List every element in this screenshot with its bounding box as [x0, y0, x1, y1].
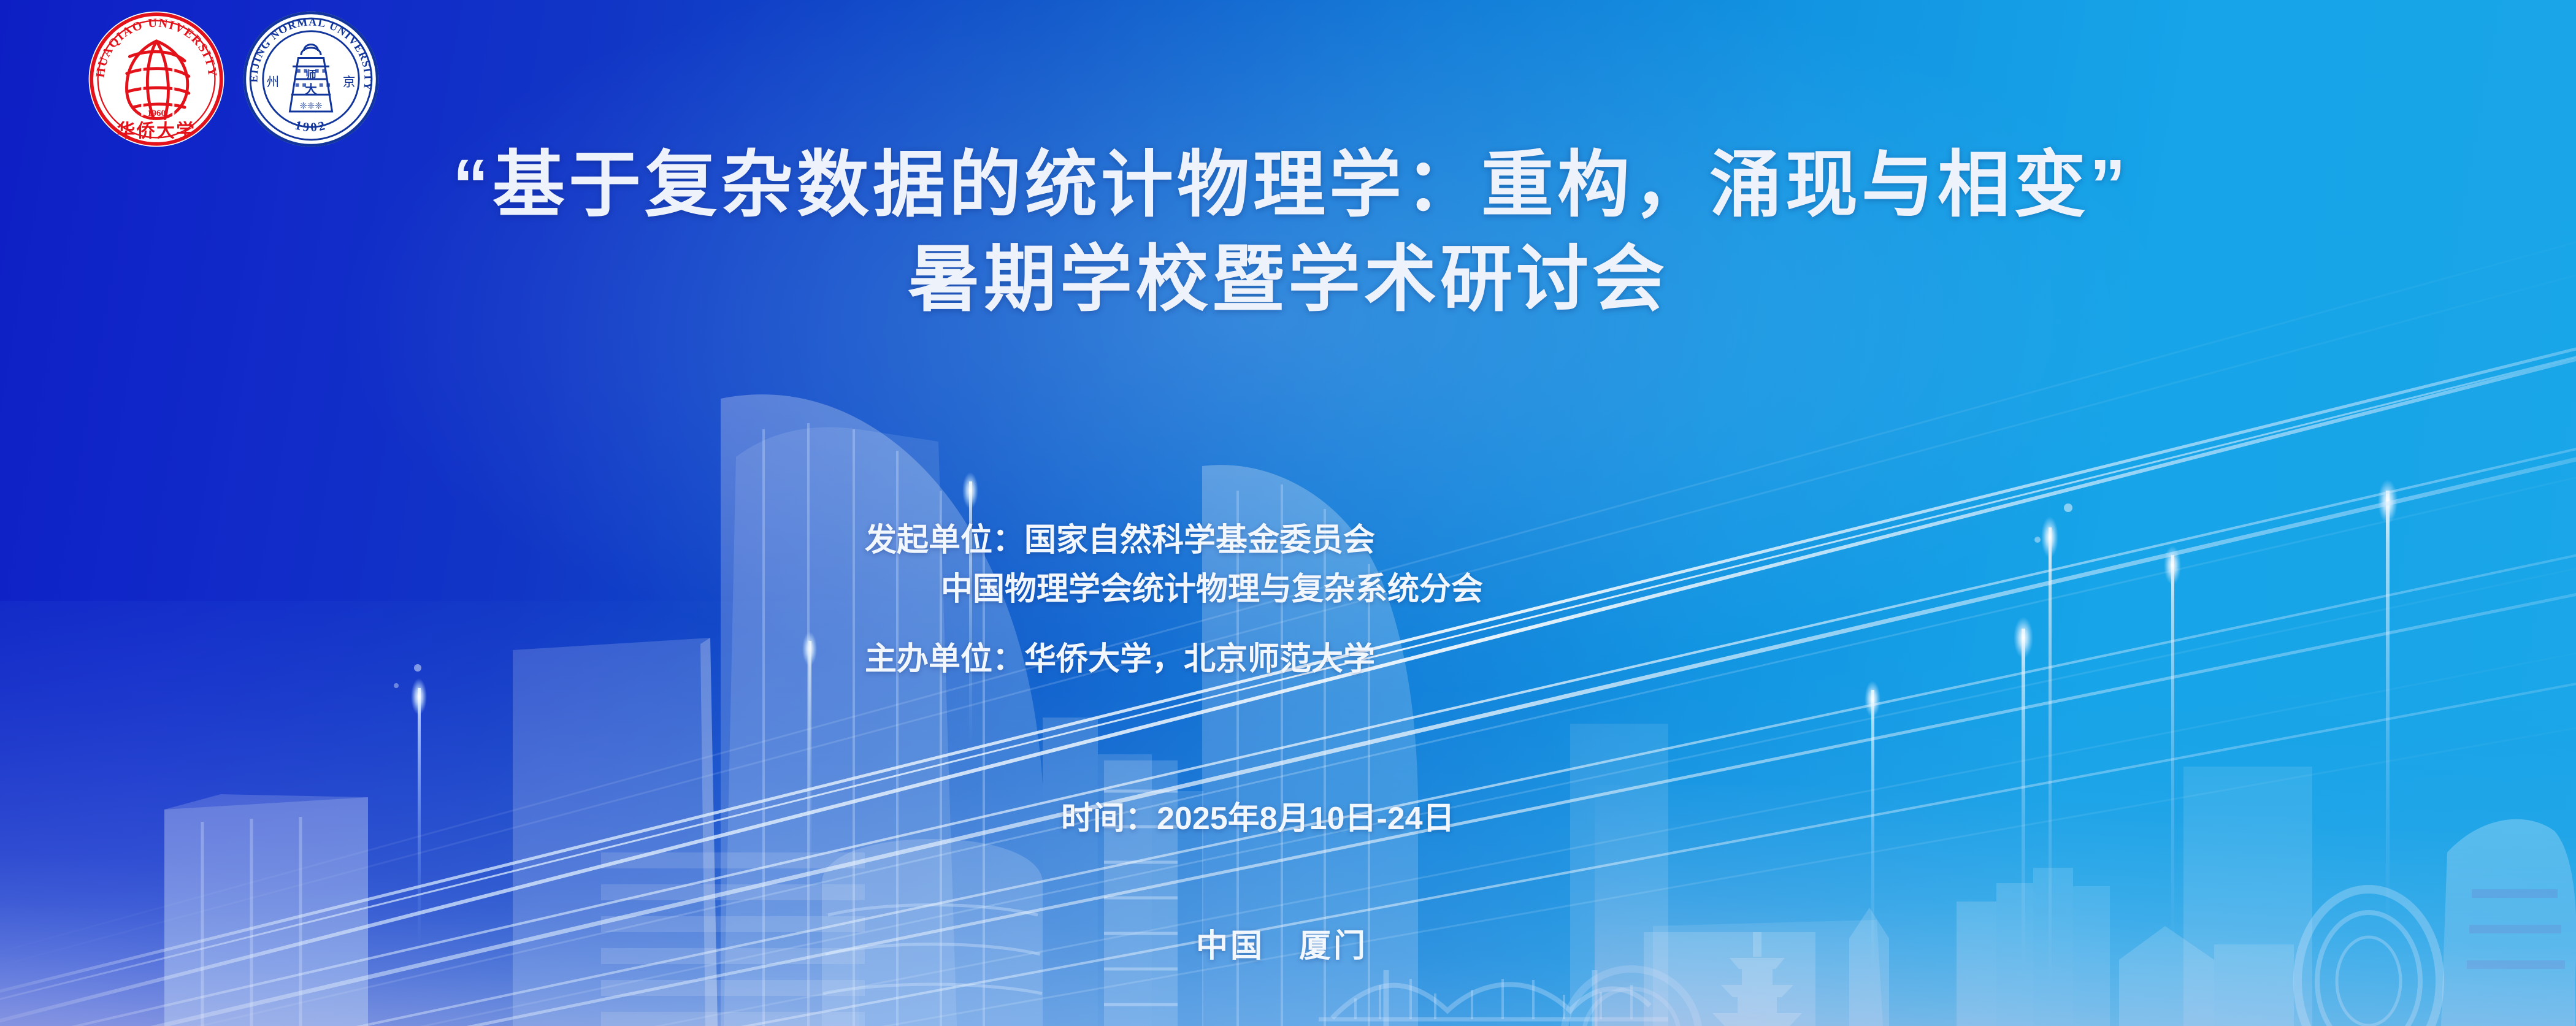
host-line: 主办单位：华侨大学，北京师范大学: [865, 643, 1483, 675]
university-logos: HUAQIAO UNIVERSITY 1960 华侨大学: [86, 9, 381, 150]
skyline-far: [724, 427, 2312, 1026]
suspension-bridge: [1319, 970, 1668, 1026]
svg-text:京: 京: [343, 75, 356, 90]
date-line: 时间：2025年8月10日-24日: [1061, 792, 1455, 838]
huaqiao-university-logo: HUAQIAO UNIVERSITY 1960 华侨大学: [86, 9, 227, 150]
svg-text:州: 州: [267, 75, 280, 90]
pagoda: [1712, 932, 1802, 1026]
round-ribbed-building: [822, 839, 1043, 1026]
svg-text:大: 大: [305, 82, 317, 96]
title-line-1: “基于复杂数据的统计物理学：重构，涌现与相变”: [0, 136, 2576, 234]
beijing-normal-university-logo: BEIJING NORMAL UNIVERSITY 1902 师 大: [240, 9, 381, 150]
skyline-right: [1849, 819, 2576, 1026]
svg-text:1960: 1960: [147, 109, 166, 118]
conference-banner: HUAQIAO UNIVERSITY 1960 华侨大学: [0, 0, 2576, 1026]
svg-text:华侨大学: 华侨大学: [117, 120, 196, 142]
svg-text:❈❈❈: ❈❈❈: [299, 100, 323, 111]
place-line: 中国 厦门: [1196, 920, 1368, 966]
ferris-wheel: [2298, 889, 2440, 1026]
organizer-line-2: 中国物理学会统计物理与复杂系统分会: [941, 573, 1483, 605]
svg-text:师: 师: [305, 69, 316, 82]
skyline-center-blocks: [1043, 718, 1203, 1026]
banner-title: “基于复杂数据的统计物理学：重构，涌现与相变” 暑期学校暨学术研讨会: [0, 136, 2576, 329]
striped-tower: [164, 794, 1883, 1026]
conference-info: 发起单位：国家自然科学基金委员会 中国物理学会统计物理与复杂系统分会 主办单位：…: [865, 524, 1483, 675]
title-line-2: 暑期学校暨学术研讨会: [0, 231, 2576, 329]
ring-arc-left: [1564, 969, 1699, 1026]
svg-text:1902: 1902: [294, 118, 329, 134]
horizontal-striped-tower: [601, 797, 865, 1026]
organizer-line-1: 发起单位：国家自然科学基金委员会: [865, 524, 1483, 556]
